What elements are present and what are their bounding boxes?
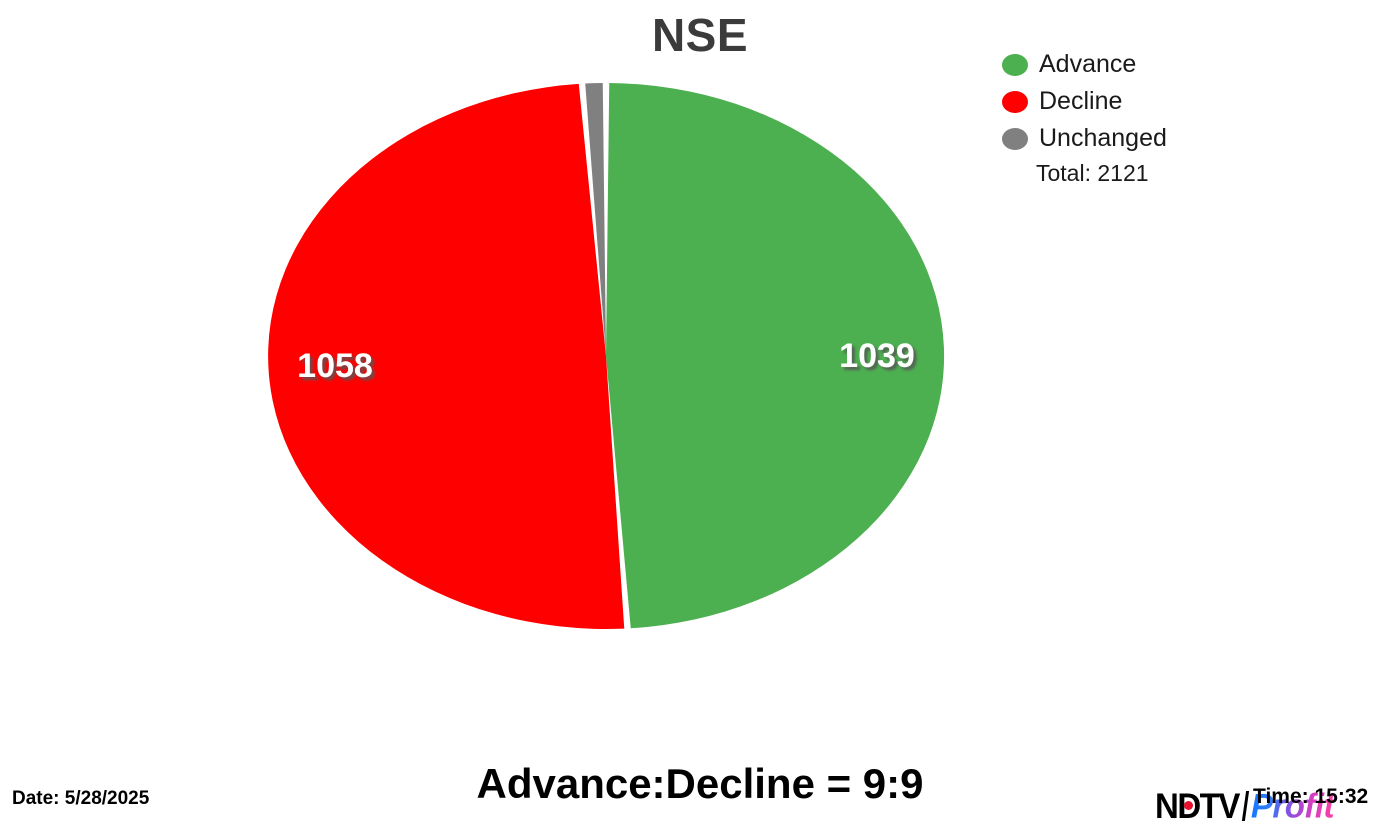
brand-dot-icon: [1184, 801, 1193, 810]
legend-swatch-decline-icon: [1002, 91, 1028, 113]
legend-label-advance: Advance: [1039, 52, 1136, 77]
pie-chart-svg: 1039 1058: [250, 72, 970, 640]
brand-divider: [1242, 791, 1249, 821]
pie-chart: 1039 1058: [250, 72, 970, 640]
legend: Advance Decline Unchanged Total: 2121: [1002, 46, 1292, 187]
legend-item-decline[interactable]: Decline: [1002, 83, 1292, 120]
legend-item-advance[interactable]: Advance: [1002, 46, 1292, 83]
date-label: Date: 5/28/2025: [12, 788, 149, 810]
pie-label-decline: 1058: [297, 347, 373, 385]
time-label: Time: 15:32: [1253, 785, 1368, 809]
chart-page: NSE 1039 1058 Advance Decline Unchanged: [0, 0, 1400, 840]
legend-item-unchanged[interactable]: Unchanged: [1002, 120, 1292, 157]
legend-label-decline: Decline: [1039, 89, 1122, 114]
legend-swatch-advance-icon: [1002, 54, 1028, 76]
legend-swatch-unchanged-icon: [1002, 128, 1028, 150]
legend-label-unchanged: Unchanged: [1039, 126, 1167, 151]
pie-label-advance: 1039: [839, 337, 915, 375]
legend-total: Total: 2121: [1002, 160, 1292, 187]
brand-ndtv-text: NDTV: [1155, 785, 1239, 826]
